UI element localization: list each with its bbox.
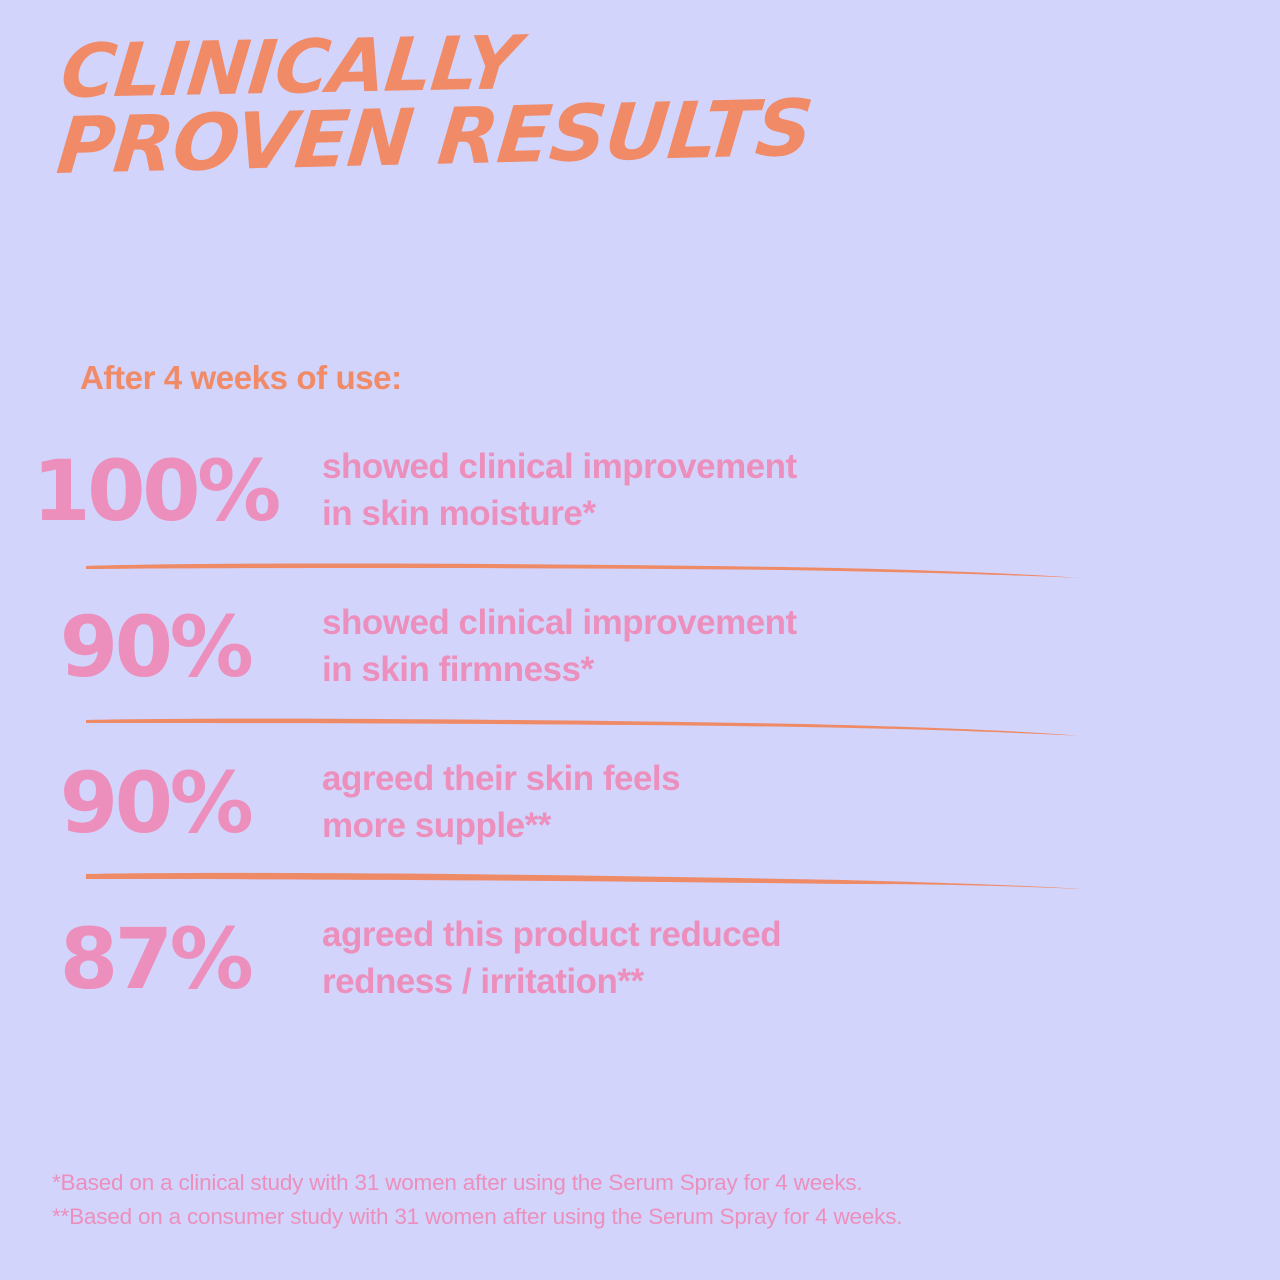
stat-description-line-1: agreed this product reduced [322,912,1280,959]
subheading: After 4 weeks of use: [80,359,402,397]
stat-value: 87% [0,917,310,1001]
stat-description-line-2: in skin firmness* [322,647,1280,694]
stat-description-line-2: redness / irritation** [322,959,1280,1006]
stat-description: agreed their skin feels more supple** [310,756,1280,849]
stat-description-line-2: in skin moisture* [322,491,1280,538]
page-title: CLINICALLY PROVEN RESULTS [54,38,814,184]
stat-value: 90% [0,761,310,845]
footnote-double-asterisk: **Based on a consumer study with 31 wome… [52,1200,902,1234]
list-item: 100% showed clinical improvement in skin… [0,432,1280,550]
list-item: 90% agreed their skin feels more supple*… [0,744,1280,862]
list-item: 90% showed clinical improvement in skin … [0,588,1280,706]
brush-divider [84,550,1084,588]
list-item: 87% agreed this product reduced redness … [0,900,1280,1018]
brush-divider [84,706,1084,744]
stat-value: 100% [0,449,310,533]
poster-canvas: CLINICALLY PROVEN RESULTS After 4 weeks … [0,0,1280,1280]
stat-description: showed clinical improvement in skin mois… [310,444,1280,537]
stat-description-line-1: showed clinical improvement [322,444,1280,491]
brush-divider [84,862,1084,900]
stat-value: 90% [0,605,310,689]
footnote-single-asterisk: *Based on a clinical study with 31 women… [52,1166,902,1200]
stat-description: showed clinical improvement in skin firm… [310,600,1280,693]
stats-list: 100% showed clinical improvement in skin… [0,432,1280,1018]
stat-description-line-1: showed clinical improvement [322,600,1280,647]
stat-description: agreed this product reduced redness / ir… [310,912,1280,1005]
page-title-line-2: PROVEN RESULTS [54,94,823,184]
stat-description-line-1: agreed their skin feels [322,756,1280,803]
stat-description-line-2: more supple** [322,803,1280,850]
footnotes: *Based on a clinical study with 31 women… [52,1166,902,1234]
